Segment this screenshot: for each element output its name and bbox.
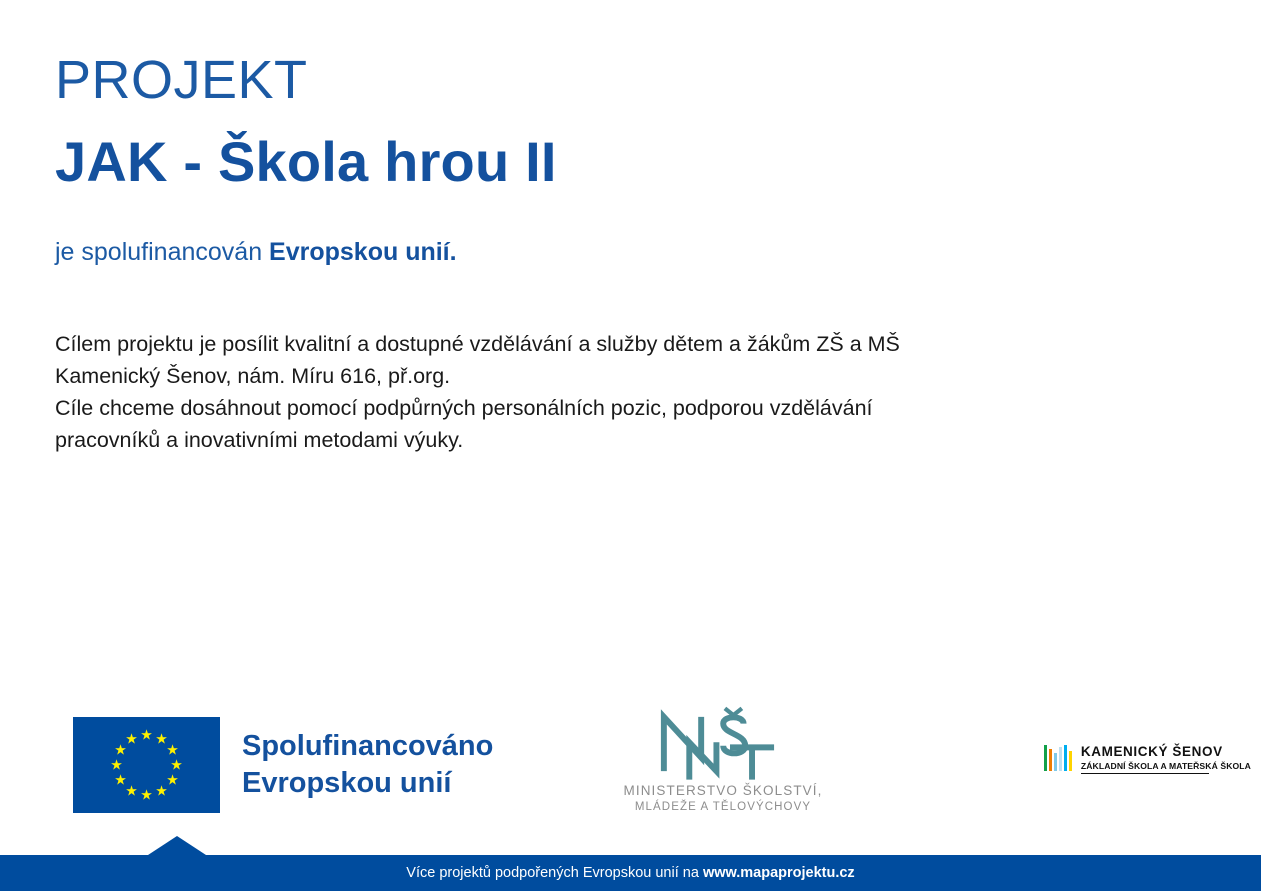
body-line-3: Cíle chceme dosáhnout pomocí podpůrných … [55,392,1145,424]
eu-star-icon: ★ [140,729,153,742]
msmt-logo: MINISTERSTVO ŠKOLSTVÍ, MLÁDEŽE A TĚLOVÝC… [598,705,848,814]
school-logo-text: KAMENICKÝ ŠENOV ZÁKLADNÍ ŠKOLA A MATEŘSK… [1081,745,1251,774]
eu-star-icon: ★ [114,774,127,787]
banner-url[interactable]: www.mapaprojektu.cz [703,865,855,881]
msmt-caption-line-1: MINISTERSTVO ŠKOLSTVÍ, [598,783,848,800]
poster-kicker: PROJEKT [55,52,1175,109]
eu-label-line-2: Evropskou unií [242,767,451,799]
body-line-4: pracovníků a inovativními metodami výuky… [55,424,1145,456]
eu-star-icon: ★ [155,784,168,797]
eu-star-icon: ★ [140,789,153,802]
eu-star-icon: ★ [170,759,183,772]
project-poster: PROJEKT JAK - Škola hrou II je spolufina… [0,0,1261,891]
school-logo: KAMENICKÝ ŠENOV ZÁKLADNÍ ŠKOLA A MATEŘSK… [1044,745,1251,774]
school-underline [1081,773,1209,774]
school-bar-icon [1049,749,1052,771]
banner-text: Více projektů podpořených Evropskou unií… [0,855,1261,891]
school-bar-icon [1044,745,1047,771]
banner-lead: Více projektů podpořených Evropskou unií… [406,865,703,881]
school-bar-icon [1059,747,1062,771]
school-bar-icon [1054,753,1057,771]
eu-funding-label: Spolufinancováno Evropskou unií [242,728,493,802]
eu-label-line-1: Spolufinancováno [242,730,493,762]
school-bar-icon [1069,751,1072,771]
banner-notch-triangle [148,836,206,855]
school-bar-icon [1064,745,1067,771]
poster-heading-block: PROJEKT JAK - Škola hrou II je spolufina… [55,52,1175,267]
eu-star-icon: ★ [166,744,179,757]
eu-flag-icon: ★★★★★★★★★★★★ [73,717,220,813]
eu-funding-logo: ★★★★★★★★★★★★ Spolufinancováno Evropskou … [73,717,493,813]
poster-body-copy: Cílem projektu je posílit kvalitní a dos… [55,328,1145,456]
school-bars-icon [1044,745,1074,771]
body-line-1: Cílem projektu je posílit kvalitní a dos… [55,328,1145,360]
msmt-caption-line-2: MLÁDEŽE A TĚLOVÝCHOVY [598,800,848,814]
page-title: JAK - Škola hrou II [55,131,1175,194]
bottom-banner: Více projektů podpořených Evropskou unií… [0,855,1261,891]
body-line-2: Kamenický Šenov, nám. Míru 616, př.org. [55,360,1145,392]
poster-subtitle: je spolufinancován Evropskou unií. [55,237,1175,267]
eu-star-icon: ★ [110,759,123,772]
msmt-caption: MINISTERSTVO ŠKOLSTVÍ, MLÁDEŽE A TĚLOVÝC… [598,783,848,814]
school-subtitle: ZÁKLADNÍ ŠKOLA A MATEŘSKÁ ŠKOLA [1081,762,1251,771]
msmt-monogram-icon [652,705,794,783]
logo-strip: ★★★★★★★★★★★★ Spolufinancováno Evropskou … [0,705,1261,830]
eu-star-icon: ★ [125,733,138,746]
subtitle-lead: je spolufinancován [55,238,269,266]
subtitle-emphasis: Evropskou unií. [269,238,457,266]
school-name: KAMENICKÝ ŠENOV [1081,745,1251,759]
